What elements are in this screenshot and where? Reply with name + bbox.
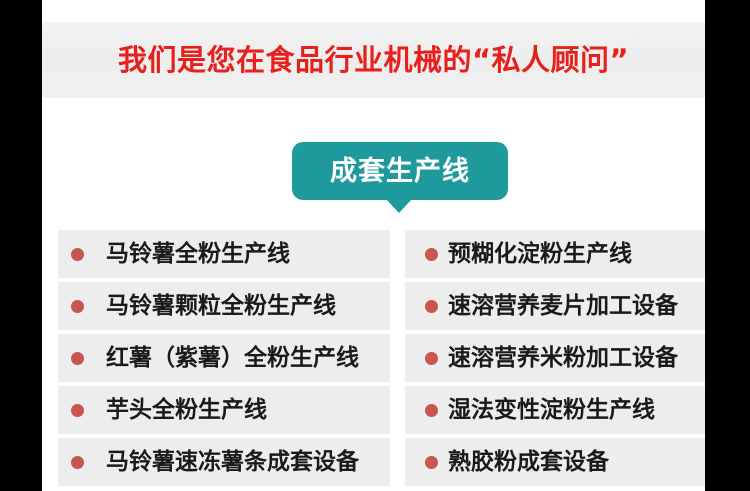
section-badge: 成套生产线 [292,142,508,214]
bullet-dot-icon [71,352,84,365]
bullet-dot-icon [71,248,84,261]
list-item[interactable]: 速溶营养麦片加工设备 [405,282,705,330]
content-canvas: 我们是您在食品行业机械的“私人顾问” 成套生产线 马铃薯全粉生产线 马铃薯颗粒全… [42,0,705,491]
badge-pointer-triangle [386,199,412,213]
page-root: 我们是您在食品行业机械的“私人顾问” 成套生产线 马铃薯全粉生产线 马铃薯颗粒全… [0,0,750,491]
list-item[interactable]: 熟胶粉成套设备 [405,438,705,486]
list-item-label: 速溶营养麦片加工设备 [448,295,678,318]
bullet-dot-icon [425,300,438,313]
list-item[interactable]: 马铃薯速冻薯条成套设备 [58,438,390,486]
product-list-column-right: 预糊化淀粉生产线 速溶营养麦片加工设备 速溶营养米粉加工设备 湿法变性淀粉生产线… [405,230,705,486]
list-item-label: 湿法变性淀粉生产线 [448,399,655,422]
section-badge-label: 成套生产线 [330,158,470,185]
list-item-label: 红薯（紫薯）全粉生产线 [106,347,359,370]
list-item[interactable]: 速溶营养米粉加工设备 [405,334,705,382]
product-list: 马铃薯全粉生产线 马铃薯颗粒全粉生产线 红薯（紫薯）全粉生产线 芋头全粉生产线 … [58,230,705,486]
list-item-label: 速溶营养米粉加工设备 [448,347,678,370]
list-item[interactable]: 预糊化淀粉生产线 [405,230,705,278]
bullet-dot-icon [425,404,438,417]
list-item[interactable]: 马铃薯全粉生产线 [58,230,390,278]
list-item-label: 马铃薯颗粒全粉生产线 [106,295,336,318]
bullet-dot-icon [425,456,438,469]
list-item[interactable]: 红薯（紫薯）全粉生产线 [58,334,390,382]
headline-banner: 我们是您在食品行业机械的“私人顾问” [42,22,705,98]
list-item-label: 预糊化淀粉生产线 [448,243,632,266]
list-item-label: 马铃薯全粉生产线 [106,243,290,266]
bullet-dot-icon [71,456,84,469]
list-item[interactable]: 马铃薯颗粒全粉生产线 [58,282,390,330]
bullet-dot-icon [71,404,84,417]
list-item[interactable]: 芋头全粉生产线 [58,386,390,434]
bullet-dot-icon [425,248,438,261]
section-badge-body: 成套生产线 [292,142,508,200]
bullet-dot-icon [71,300,84,313]
list-item-label: 马铃薯速冻薯条成套设备 [106,451,359,474]
page-title: 我们是您在食品行业机械的“私人顾问” [118,46,629,75]
list-item-label: 芋头全粉生产线 [106,399,267,422]
list-item-label: 熟胶粉成套设备 [448,451,609,474]
bullet-dot-icon [425,352,438,365]
list-item[interactable]: 湿法变性淀粉生产线 [405,386,705,434]
product-list-column-left: 马铃薯全粉生产线 马铃薯颗粒全粉生产线 红薯（紫薯）全粉生产线 芋头全粉生产线 … [58,230,390,486]
